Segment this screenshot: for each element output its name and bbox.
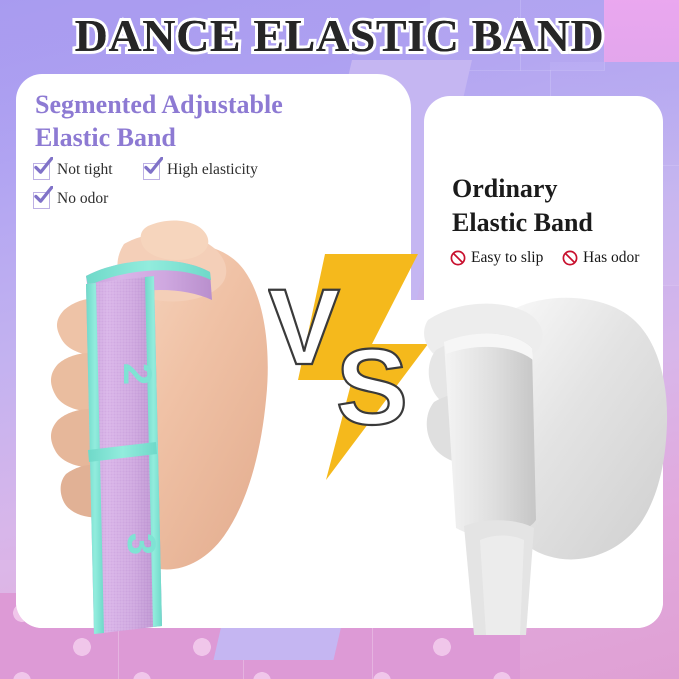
vs-letter-s: S [336,326,408,447]
left-heading-line-2: Elastic Band [35,121,385,154]
infographic-canvas: DANCE ELASTIC BAND DANCE ELASTIC BAND Se… [0,0,679,679]
checkbox-checked-icon [33,162,50,179]
checkbox-checked-icon [33,191,50,208]
left-heading-line-1: Segmented Adjustable [35,88,385,121]
feature-label: High elasticity [167,161,258,179]
feature-item-no-odor: No odor [33,190,108,208]
vs-letter-v: V [268,266,340,387]
drawback-item-has-odor: Has odor [562,249,639,267]
checkbox-checked-icon [143,162,160,179]
feature-item-not-tight: Not tight [33,161,113,179]
feature-item-high-elasticity: High elasticity [143,161,258,179]
left-panel-heading: Segmented Adjustable Elastic Band [35,88,385,155]
right-heading-line-1: Ordinary [452,172,667,206]
drawback-item-easy-to-slip: Easy to slip [450,249,543,267]
page-title: DANCE ELASTIC BAND [0,9,679,62]
product-photo-ordinary-band [420,290,670,635]
right-heading-line-2: Elastic Band [452,206,667,240]
band-segment-label-2: 2 [115,363,159,385]
drawback-label: Has odor [583,249,639,267]
prohibited-icon [450,250,466,266]
band-segment-label-3: 3 [119,533,163,555]
right-panel-heading: Ordinary Elastic Band [452,172,667,240]
vs-badge: V S [268,252,433,482]
feature-label: Not tight [57,161,113,179]
feature-label: No odor [57,190,108,208]
drawback-label: Easy to slip [471,249,543,267]
prohibited-icon [562,250,578,266]
